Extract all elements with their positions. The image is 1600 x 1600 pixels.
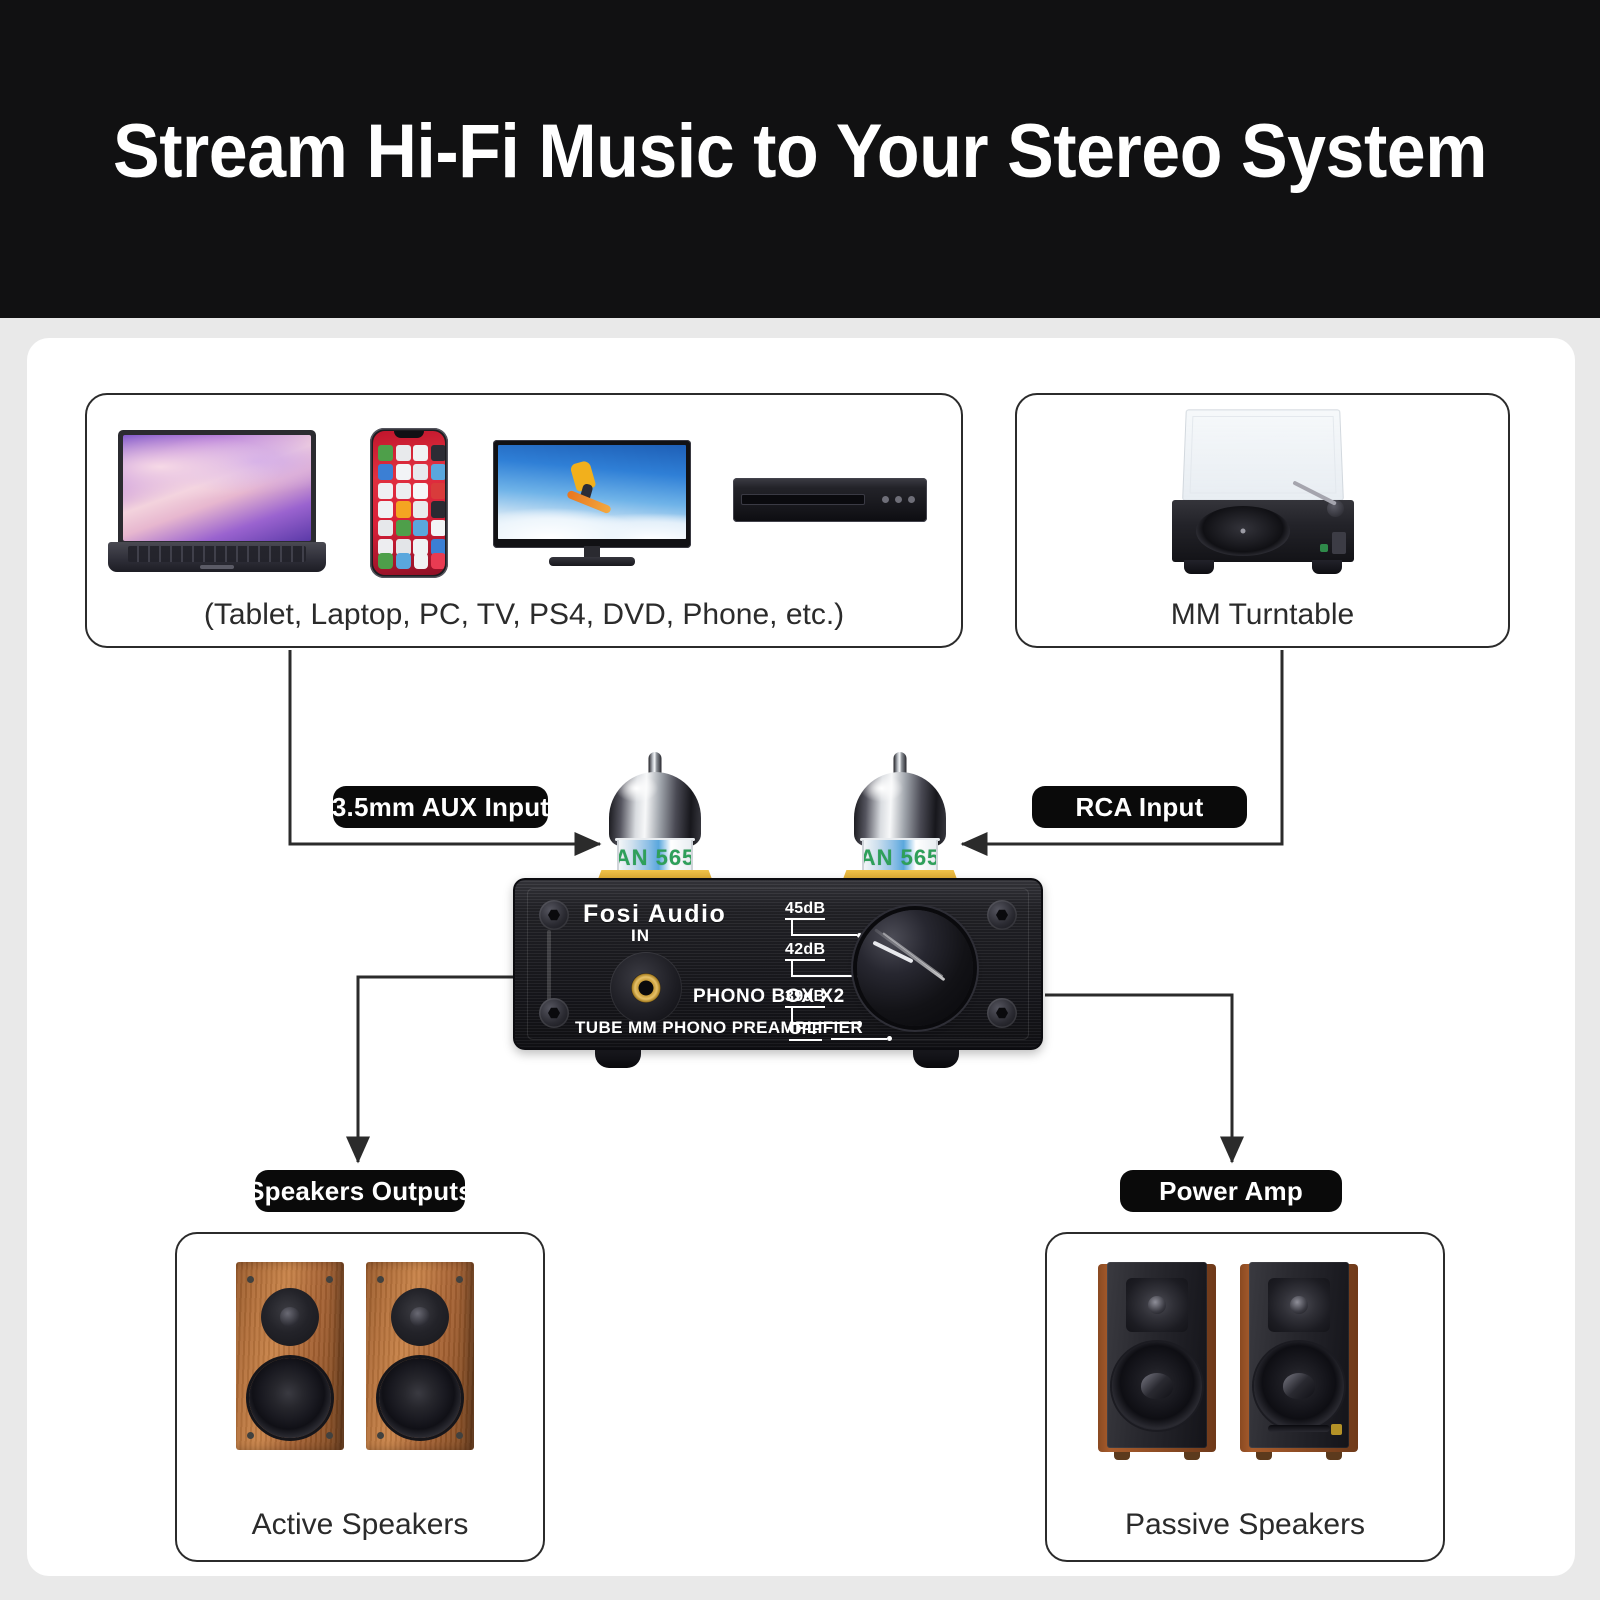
tube-label-right: JAN 5654 bbox=[862, 840, 938, 874]
laptop-icon bbox=[108, 430, 326, 572]
knob-highlight-secondary bbox=[882, 932, 943, 977]
gain-tick-off bbox=[831, 1038, 887, 1040]
laptop-keyboard bbox=[128, 546, 306, 562]
hex-screw-icon bbox=[539, 900, 569, 930]
bass-port bbox=[1268, 1425, 1330, 1432]
monitor-baffle bbox=[1249, 1262, 1349, 1448]
amp-input-label: IN bbox=[631, 926, 650, 946]
tv-screen bbox=[498, 445, 686, 539]
woofer-icon bbox=[379, 1358, 461, 1438]
gain-label-45db: 45dB bbox=[785, 900, 825, 918]
sources-group-label: (Tablet, Laptop, PC, TV, PS4, DVD, Phone… bbox=[87, 598, 961, 632]
gain-dot-off bbox=[887, 1036, 892, 1041]
hex-screw-icon bbox=[539, 998, 569, 1028]
dvd-player-icon bbox=[733, 478, 927, 522]
tweeter-icon bbox=[261, 1288, 319, 1346]
dvd-player-body bbox=[733, 478, 927, 522]
wooden-speaker-icon bbox=[236, 1262, 344, 1450]
phone-body bbox=[370, 428, 448, 578]
tube-label-text-right: JAN 5654 bbox=[862, 845, 938, 871]
gain-tick-39db bbox=[791, 1008, 857, 1024]
phone-screen bbox=[373, 431, 445, 575]
phone-app-grid bbox=[378, 445, 445, 555]
hex-screw-icon bbox=[987, 900, 1017, 930]
turntable-icon bbox=[1172, 408, 1354, 583]
laptop-trackpad-notch bbox=[200, 565, 234, 569]
phone-notch bbox=[394, 431, 424, 438]
turntable-dust-cover bbox=[1182, 409, 1344, 500]
turntable-group-label: MM Turntable bbox=[1017, 598, 1508, 632]
tube-glass-dome-left bbox=[609, 772, 701, 846]
vacuum-tube-right: JAN 5654 bbox=[845, 752, 955, 882]
woofer-icon bbox=[249, 1358, 331, 1438]
aux-jack-input[interactable] bbox=[610, 952, 682, 1024]
amp-front-panel: Fosi Audio IN PHONO BOX X2 TUBE MM PHONO… bbox=[513, 878, 1043, 1050]
tv-frame bbox=[493, 440, 691, 548]
monitor-baffle bbox=[1107, 1262, 1207, 1448]
black-monitor-icon bbox=[1098, 1262, 1216, 1454]
power-amp-badge[interactable]: Power Amp bbox=[1120, 1170, 1342, 1212]
gain-tick-45db bbox=[791, 920, 857, 936]
aux-input-badge[interactable]: 3.5mm AUX Input bbox=[333, 786, 548, 828]
gain-label-39db: 39dB bbox=[785, 988, 825, 1006]
passive-speakers-label: Passive Speakers bbox=[1047, 1508, 1443, 1542]
gain-tick-42db bbox=[791, 961, 857, 977]
hex-screw-icon bbox=[987, 998, 1017, 1028]
gain-label-42db: 42dB bbox=[785, 941, 825, 959]
laptop-base bbox=[108, 542, 326, 572]
woofer-icon bbox=[1112, 1342, 1202, 1430]
wooden-speaker-icon bbox=[366, 1262, 474, 1450]
dvd-disc-tray bbox=[741, 494, 865, 505]
diagram-page: Stream Hi-Fi Music to Your Stereo System… bbox=[0, 0, 1600, 1600]
tv-stand-base bbox=[549, 557, 635, 566]
tweeter-icon bbox=[1126, 1278, 1188, 1332]
gain-dot-45db bbox=[857, 933, 862, 938]
amp-brand-label: Fosi Audio bbox=[583, 900, 726, 929]
gain-dot-39db bbox=[857, 1021, 862, 1026]
laptop-screen bbox=[118, 430, 316, 546]
phone-icon bbox=[370, 428, 448, 578]
phono-preamplifier[interactable]: Fosi Audio IN PHONO BOX X2 TUBE MM PHONO… bbox=[513, 878, 1043, 1056]
tweeter-icon bbox=[391, 1288, 449, 1346]
dvd-buttons bbox=[882, 496, 915, 503]
turntable-foot-right bbox=[1312, 560, 1342, 574]
tube-glass-dome-right bbox=[854, 772, 946, 846]
active-speakers-label: Active Speakers bbox=[177, 1508, 543, 1542]
black-monitor-icon bbox=[1240, 1262, 1358, 1454]
tube-label-left: JAN 5654 bbox=[617, 840, 693, 874]
rca-input-badge[interactable]: RCA Input bbox=[1032, 786, 1247, 828]
turntable-indicator bbox=[1320, 544, 1328, 552]
tube-label-text-left: JAN 5654 bbox=[617, 845, 693, 871]
tv-icon bbox=[493, 440, 691, 570]
turntable-platter bbox=[1196, 506, 1290, 556]
vacuum-tube-left: JAN 5654 bbox=[600, 752, 710, 882]
phone-dock bbox=[378, 553, 445, 569]
tweeter-icon bbox=[1268, 1278, 1330, 1332]
turntable-foot-left bbox=[1184, 560, 1214, 574]
gain-selector-knob[interactable] bbox=[857, 910, 973, 1026]
wooden-speaker-cabinet bbox=[366, 1262, 474, 1450]
laptop-wallpaper bbox=[123, 435, 311, 541]
turntable-plinth bbox=[1172, 500, 1354, 562]
turntable-control bbox=[1332, 532, 1346, 554]
active-speakers-group-box[interactable]: Active Speakers bbox=[175, 1232, 545, 1562]
brand-badge bbox=[1331, 1424, 1342, 1435]
speakers-outputs-badge[interactable]: Speakers Outputs bbox=[255, 1170, 465, 1212]
wooden-speaker-cabinet bbox=[236, 1262, 344, 1450]
woofer-icon bbox=[1254, 1342, 1344, 1430]
